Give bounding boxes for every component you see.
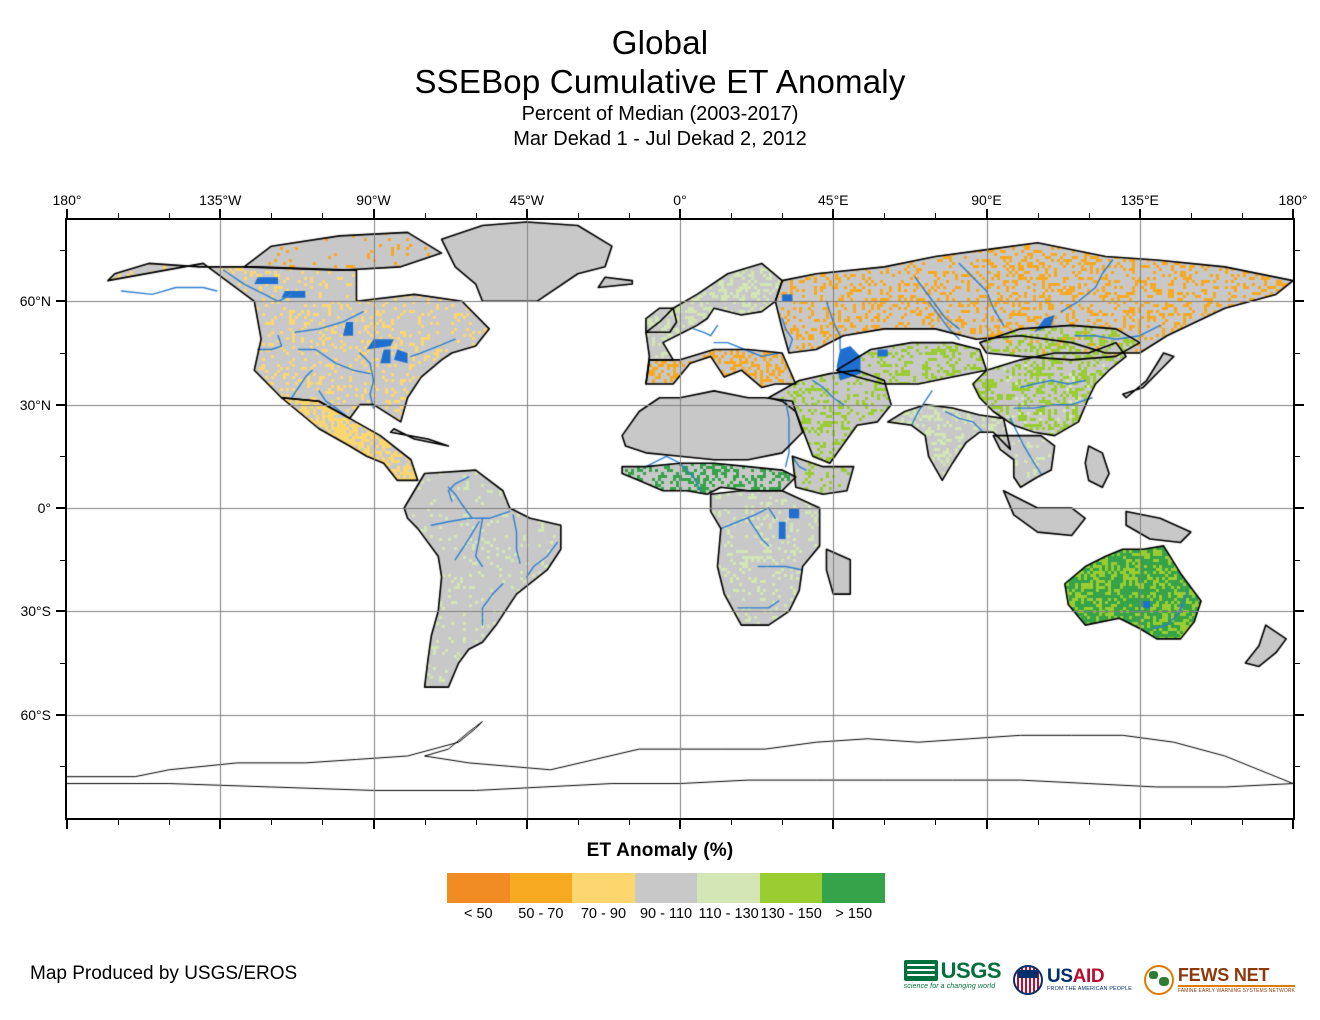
legend-labels: < 5050 - 7070 - 9090 - 110110 - 130130 -… bbox=[447, 906, 885, 928]
legend-swatch-2 bbox=[572, 873, 635, 903]
legend-label-3: 90 - 110 bbox=[635, 906, 698, 928]
fews-net-logo[interactable]: FEWS NET FAMINE EARLY WARNING SYSTEMS NE… bbox=[1144, 960, 1295, 1000]
lon-tick-major-top-0 bbox=[66, 209, 68, 218]
usaid-tagline: FROM THE AMERICAN PEOPLE bbox=[1047, 986, 1132, 992]
legend-label-4: 110 - 130 bbox=[697, 906, 760, 928]
usaid-seal-icon bbox=[1013, 965, 1043, 995]
lon-tick-minor-bot bbox=[1089, 820, 1090, 825]
lon-label-8: 180° bbox=[1279, 192, 1308, 208]
lon-tick-major-bot-5 bbox=[832, 820, 834, 829]
lon-label-7: 135°E bbox=[1121, 192, 1159, 208]
lat-tick-minor-right bbox=[1295, 560, 1300, 561]
legend-swatch-4 bbox=[697, 873, 760, 903]
lon-tick-minor-bot bbox=[782, 820, 783, 825]
legend-swatch-6 bbox=[822, 873, 885, 903]
lon-tick-minor-bot bbox=[169, 820, 170, 825]
lon-tick-major-bot-0 bbox=[66, 820, 68, 829]
lon-tick-major-top-4 bbox=[679, 209, 681, 218]
usgs-tagline: science for a changing world bbox=[904, 983, 996, 990]
lon-tick-major-bot-6 bbox=[986, 820, 988, 829]
legend: ET Anomaly (%) < 5050 - 7070 - 9090 - 11… bbox=[0, 840, 1320, 862]
legend-swatch-3 bbox=[635, 873, 698, 903]
map-credit: Map Produced by USGS/EROS bbox=[30, 963, 297, 985]
world-map-raster[interactable] bbox=[67, 220, 1293, 818]
lon-label-5: 45°E bbox=[818, 192, 849, 208]
fews-net-rule bbox=[1178, 985, 1295, 987]
lat-tick-major-left-0 bbox=[56, 300, 65, 302]
usgs-logo[interactable]: USGS science for a changing world bbox=[904, 960, 1001, 1000]
lon-tick-major-top-7 bbox=[1139, 209, 1141, 218]
lon-tick-major-top-5 bbox=[832, 209, 834, 218]
legend-label-0: < 50 bbox=[447, 906, 510, 928]
lat-tick-minor-right bbox=[1295, 456, 1300, 457]
lat-tick-major-right-1 bbox=[1295, 404, 1304, 406]
lon-label-0: 180° bbox=[53, 192, 82, 208]
lon-tick-minor-bot bbox=[1191, 820, 1192, 825]
lon-tick-major-bot-4 bbox=[679, 820, 681, 829]
lon-tick-minor-bot bbox=[271, 820, 272, 825]
lat-tick-minor-right bbox=[1295, 663, 1300, 664]
lon-tick-minor-bot bbox=[322, 820, 323, 825]
globe-icon bbox=[1144, 965, 1174, 995]
fews-net-tagline: FAMINE EARLY WARNING SYSTEMS NETWORK bbox=[1178, 988, 1295, 994]
usgs-waves-icon bbox=[904, 960, 938, 981]
lon-tick-major-top-8 bbox=[1292, 209, 1294, 218]
usaid-word-aid: AID bbox=[1073, 966, 1105, 987]
lon-label-6: 90°E bbox=[971, 192, 1002, 208]
lon-label-2: 90°W bbox=[356, 192, 390, 208]
legend-label-6: > 150 bbox=[822, 906, 885, 928]
lon-tick-major-top-1 bbox=[219, 209, 221, 218]
lat-tick-minor-right bbox=[1295, 250, 1300, 251]
lon-label-4: 0° bbox=[673, 192, 686, 208]
title-block: Global SSEBop Cumulative ET Anomaly Perc… bbox=[0, 24, 1320, 152]
lat-tick-major-left-3 bbox=[56, 610, 65, 612]
lon-tick-minor-bot bbox=[476, 820, 477, 825]
legend-label-2: 70 - 90 bbox=[572, 906, 635, 928]
lon-tick-major-bot-1 bbox=[219, 820, 221, 829]
lat-label-3: 30°S bbox=[0, 603, 51, 619]
legend-swatch-0 bbox=[447, 873, 510, 903]
lon-tick-minor-bot bbox=[731, 820, 732, 825]
lon-tick-minor-bot bbox=[1242, 820, 1243, 825]
legend-swatch-1 bbox=[510, 873, 573, 903]
fews-net-wordmark: FEWS NET bbox=[1178, 966, 1295, 984]
lat-tick-major-right-3 bbox=[1295, 610, 1304, 612]
lon-tick-minor-bot bbox=[578, 820, 579, 825]
lat-tick-major-left-1 bbox=[56, 404, 65, 406]
lat-tick-minor-right bbox=[1295, 353, 1300, 354]
usgs-wordmark: USGS bbox=[941, 960, 1001, 982]
lat-tick-major-left-2 bbox=[56, 507, 65, 509]
lat-label-4: 60°S bbox=[0, 707, 51, 723]
lon-tick-minor-bot bbox=[884, 820, 885, 825]
page-title-line1: Global bbox=[0, 24, 1320, 62]
lat-tick-minor-right bbox=[1295, 766, 1300, 767]
lon-tick-minor-bot bbox=[935, 820, 936, 825]
lat-tick-major-right-0 bbox=[1295, 300, 1304, 302]
legend-swatch-5 bbox=[760, 873, 823, 903]
lat-tick-major-left-4 bbox=[56, 714, 65, 716]
page-subtitle-dekad: Mar Dekad 1 - Jul Dekad 2, 2012 bbox=[0, 127, 1320, 152]
legend-label-1: 50 - 70 bbox=[510, 906, 573, 928]
lon-tick-major-bot-3 bbox=[526, 820, 528, 829]
lon-label-1: 135°W bbox=[199, 192, 241, 208]
lon-tick-major-top-6 bbox=[986, 209, 988, 218]
lat-label-0: 60°N bbox=[0, 293, 51, 309]
lat-label-1: 30°N bbox=[0, 397, 51, 413]
lon-tick-minor-bot bbox=[425, 820, 426, 825]
legend-title: ET Anomaly (%) bbox=[0, 840, 1320, 862]
lon-tick-major-bot-2 bbox=[373, 820, 375, 829]
page-subtitle-period: Percent of Median (2003-2017) bbox=[0, 102, 1320, 127]
lon-tick-major-bot-8 bbox=[1292, 820, 1294, 829]
lon-tick-minor-bot bbox=[118, 820, 119, 825]
lon-label-3: 45°W bbox=[510, 192, 544, 208]
lon-tick-major-bot-7 bbox=[1139, 820, 1141, 829]
agency-logos: USGS science for a changing world USAID … bbox=[904, 957, 1295, 1002]
usaid-logo[interactable]: USAID FROM THE AMERICAN PEOPLE bbox=[1013, 960, 1132, 1000]
lon-tick-major-top-3 bbox=[526, 209, 528, 218]
usaid-word-us: US bbox=[1047, 966, 1073, 987]
lat-tick-major-right-4 bbox=[1295, 714, 1304, 716]
legend-color-bar bbox=[447, 873, 885, 903]
lon-tick-minor-bot bbox=[1038, 820, 1039, 825]
page-title-line2: SSEBop Cumulative ET Anomaly bbox=[0, 62, 1320, 102]
lon-tick-major-top-2 bbox=[373, 209, 375, 218]
legend-label-5: 130 - 150 bbox=[760, 906, 823, 928]
lon-tick-minor-bot bbox=[629, 820, 630, 825]
map-frame[interactable] bbox=[65, 218, 1295, 820]
usaid-wordmark: USAID bbox=[1047, 967, 1132, 986]
lat-tick-major-right-2 bbox=[1295, 507, 1304, 509]
lat-label-2: 0° bbox=[0, 500, 51, 516]
